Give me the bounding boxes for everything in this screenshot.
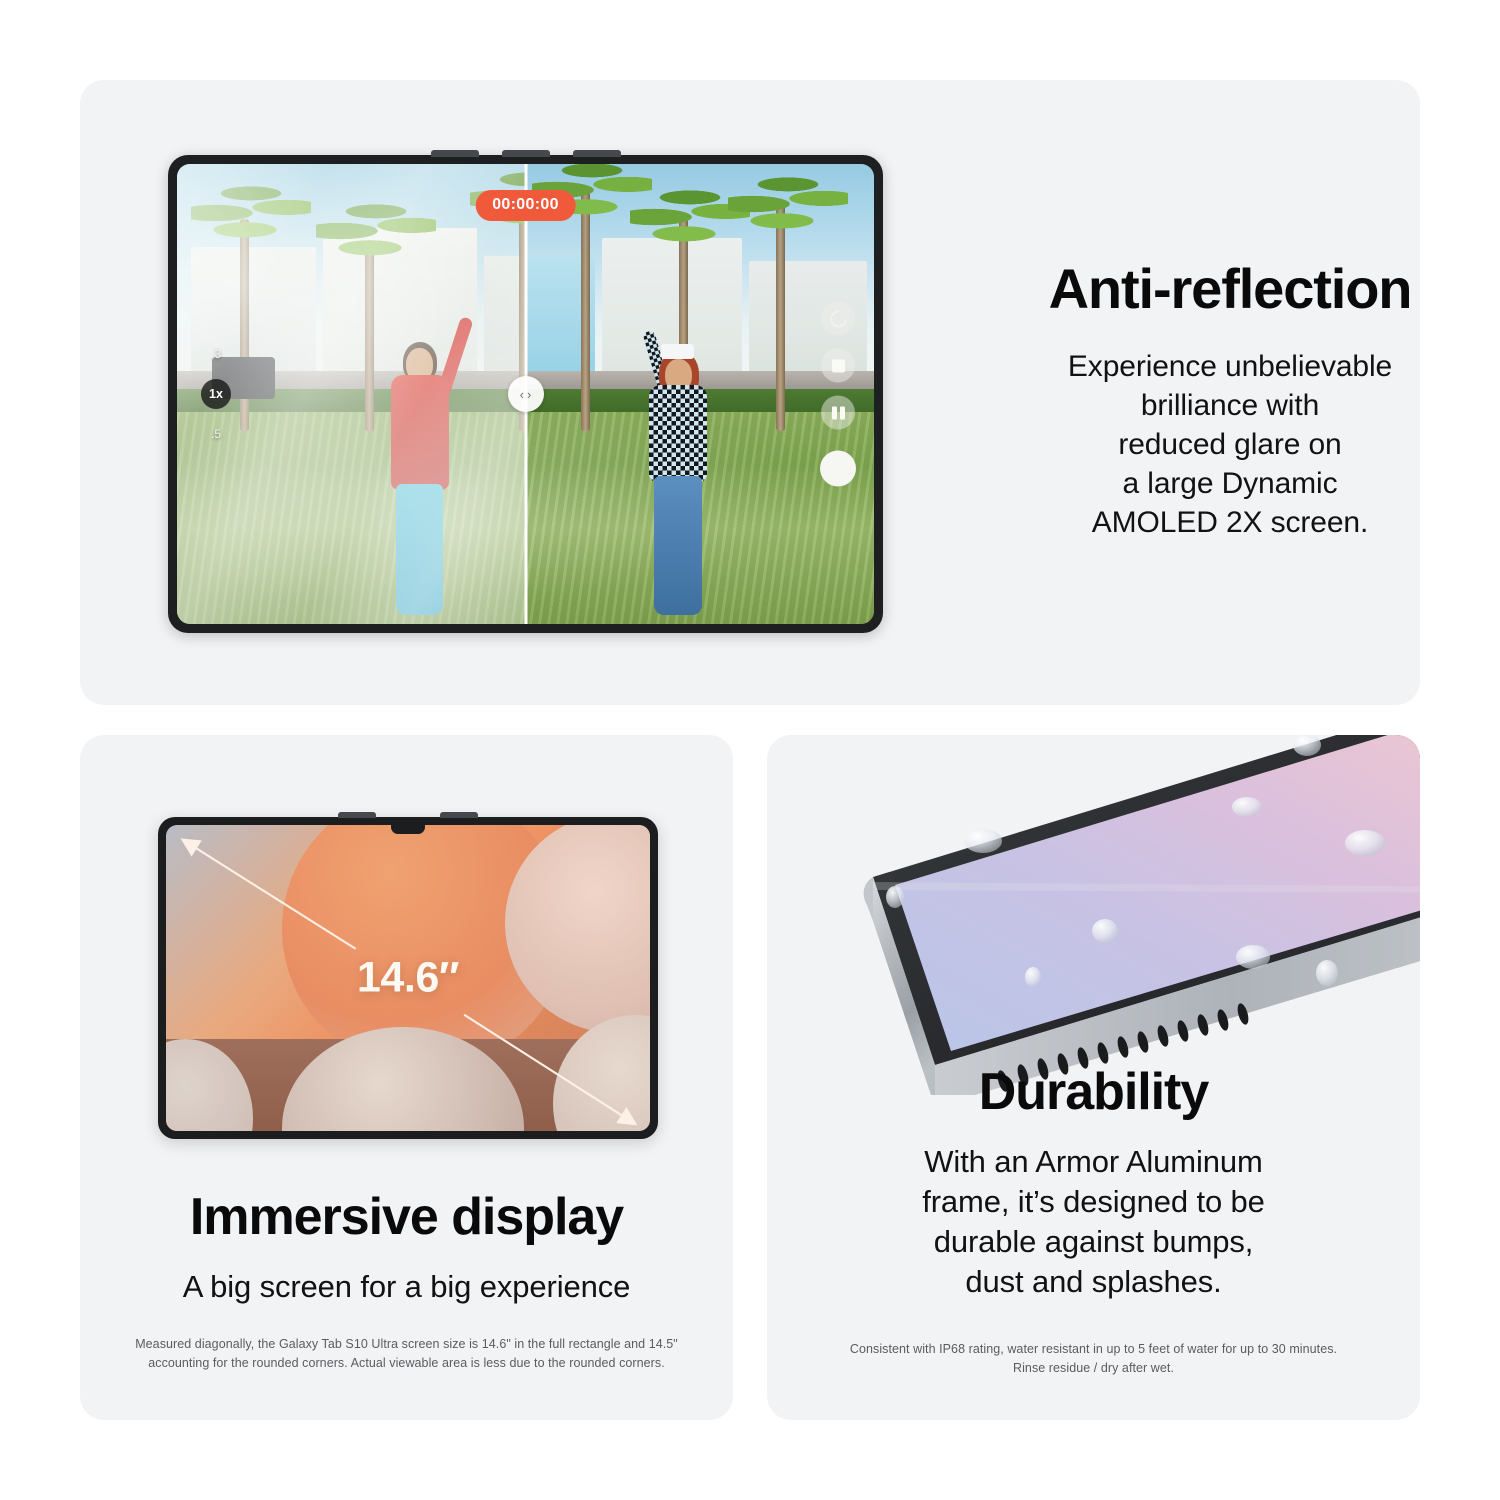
chevron-right-icon: › [527,388,531,401]
subcopy-line: With an Armor Aluminum [924,1144,1262,1179]
stop-recording-icon [832,359,845,372]
tablet-wallpaper: 14.6″ [166,825,650,1131]
pause-recording-button[interactable] [821,396,855,430]
subcopy-line: dust and splashes. [965,1264,1221,1299]
subcopy-line: AMOLED 2X screen. [1092,506,1368,539]
footnote-line: Consistent with IP68 rating, water resis… [850,1342,1337,1356]
water-droplet [1025,967,1041,987]
jeans [396,484,443,615]
palm-fronds [728,169,848,239]
camera-viewfinder: ‹ › 00:00:00 .3 1x .5 [177,164,874,624]
water-droplet [1236,945,1270,969]
person-pink-top [498,330,526,615]
water-droplet [1092,919,1118,943]
immersive-display-footnote: Measured diagonally, the Galaxy Tab S10 … [135,1335,678,1374]
footnote-line: Rinse residue / dry after wet. [1013,1361,1174,1375]
footnote-line: accounting for the rounded corners. Actu… [148,1356,664,1370]
tablet-top-buttons [338,812,478,818]
stop-recording-button[interactable] [821,349,855,383]
page-title-anti-reflection: Anti-reflection [980,260,1420,319]
jeans [654,476,702,614]
diagonal-measure-arrow [166,825,650,1131]
tablet-top-buttons [431,150,621,157]
card-durability: Durability With an Armor Aluminum frame,… [767,735,1420,1420]
card-anti-reflection: ‹ › 00:00:00 .3 1x .5 [80,80,1420,705]
subcopy-line: durable against bumps, [934,1224,1254,1259]
page-title-durability: Durability [795,1065,1392,1120]
palm-trunk [581,192,590,431]
zoom-option-1x[interactable]: 1x [201,379,231,409]
subcopy-line: reduced glare on [1118,428,1341,461]
zoom-option-05[interactable]: .5 [211,427,221,441]
tablet-button-nub [431,150,479,157]
checkered-top [649,385,707,482]
pause-recording-icon [832,406,845,419]
camera-switch-icon [826,307,850,331]
subcopy-line: a large Dynamic [1123,467,1338,500]
sunglasses [661,344,694,359]
tablet-front-device: 14.6″ [158,817,658,1139]
anti-reflection-subcopy: Experience unbelievable brilliance with … [980,347,1420,542]
water-droplet [1232,797,1262,817]
chevron-left-icon: ‹ [520,388,524,401]
shutter-button[interactable] [820,451,856,487]
zoom-option-03[interactable]: .3 [211,347,221,361]
tablet-camera-nub [440,812,478,818]
red-jacket [391,375,449,490]
person-checkered-top [623,320,735,614]
durability-copy-block: Durability With an Armor Aluminum frame,… [795,1065,1392,1303]
person-red-jacket [365,311,477,615]
tablet-edge-device [767,735,1420,1095]
palm-fronds [316,196,436,266]
footnote-line: Measured diagonally, the Galaxy Tab S10 … [135,1337,678,1351]
immersive-display-copy-block: Immersive display A big screen for a big… [100,1190,713,1307]
durability-subcopy: With an Armor Aluminum frame, it’s desig… [795,1142,1392,1303]
durability-footnote: Consistent with IP68 rating, water resis… [802,1340,1385,1379]
anti-reflection-copy-block: Anti-reflection Experience unbelievable … [980,260,1420,542]
immersive-display-subcopy: A big screen for a big experience [100,1267,713,1307]
tablet-camera-device: ‹ › 00:00:00 .3 1x .5 [168,155,883,633]
tablet-camera-nub [573,150,621,157]
water-droplet [886,886,904,908]
tablet-button-nub [502,150,550,157]
water-droplet [1316,960,1338,986]
tablet-button-nub [338,812,376,818]
comparison-slider-handle[interactable]: ‹ › [508,376,544,412]
water-droplet [1293,735,1321,756]
palm-fronds [191,178,311,248]
water-droplet [1345,830,1385,856]
palm-trunk [240,219,249,431]
camera-switch-button[interactable] [821,302,855,336]
subcopy-line: Experience unbelievable [1068,350,1392,383]
card-immersive-display: 14.6″ Immersive display A big screen for… [80,735,733,1420]
page-title-immersive-display: Immersive display [100,1190,713,1245]
zoom-control-rail[interactable]: .3 1x .5 [199,347,233,441]
subcopy-line: frame, it’s designed to be [922,1184,1265,1219]
camera-control-rail[interactable] [820,302,856,487]
water-droplet [964,829,1002,853]
recording-timer-badge: 00:00:00 [475,190,576,221]
subcopy-line: brilliance with [1141,389,1319,422]
